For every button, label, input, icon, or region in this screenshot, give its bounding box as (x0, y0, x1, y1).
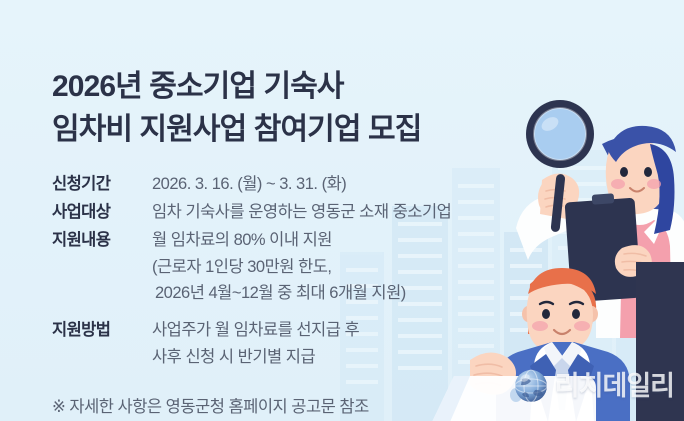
row-label: 지원방법 (52, 317, 140, 344)
row-label: 신청기간 (52, 171, 140, 198)
clipboard-icon (565, 193, 642, 302)
detail-row-support-details: 지원내용 월 임차료의 80% 이내 지원 (근로자 1인당 30만원 한도, … (52, 227, 522, 307)
row-label: 지원내용 (52, 227, 140, 254)
row-value: 2026. 3. 16. (월) ~ 3. 31. (화) (152, 171, 346, 198)
page-title: 2026년 중소기업 기숙사 임차비 지원사업 참여기업 모집 (52, 66, 522, 151)
announcement-content: 2026년 중소기업 기숙사 임차비 지원사업 참여기업 모집 신청기간 202… (52, 46, 522, 417)
watermark-text: 리치데일리 (555, 373, 674, 400)
row-value: 임차 기숙사를 운영하는 영동군 소재 중소기업 (152, 199, 451, 226)
detail-row-application-period: 신청기간 2026. 3. 16. (월) ~ 3. 31. (화) (52, 171, 522, 198)
title-line-2: 임차비 지원사업 참여기업 모집 (52, 109, 522, 152)
row-values: 월 임차료의 80% 이내 지원 (근로자 1인당 30만원 한도, 2026년… (140, 227, 406, 307)
row-value: 사후 신청 시 반기별 지급 (152, 344, 359, 371)
row-values: 임차 기숙사를 운영하는 영동군 소재 중소기업 (140, 199, 451, 226)
title-line-1: 2026년 중소기업 기숙사 (52, 66, 522, 109)
detail-rows: 신청기간 2026. 3. 16. (월) ~ 3. 31. (화) 사업대상 … (52, 171, 522, 371)
row-value: 월 임차료의 80% 이내 지원 (152, 227, 406, 254)
woman-with-magnifier-illustration (498, 88, 684, 338)
row-label: 사업대상 (52, 199, 140, 226)
row-value: 2026년 4월~12월 중 최대 6개월 지원) (152, 280, 406, 307)
row-value: 사업주가 월 임차료를 선지급 후 (152, 317, 359, 344)
row-values: 사업주가 월 임차료를 선지급 후 사후 신청 시 반기별 지급 (140, 317, 359, 370)
row-values: 2026. 3. 16. (월) ~ 3. 31. (화) (140, 171, 346, 198)
footnote: ※ 자세한 사항은 영동군청 홈페이지 공고문 참조 (52, 393, 522, 417)
row-value: (근로자 1인당 30만원 한도, (152, 254, 406, 281)
watermark: 리치데일리 (508, 365, 674, 407)
detail-row-support-method: 지원방법 사업주가 월 임차료를 선지급 후 사후 신청 시 반기별 지급 (52, 317, 522, 370)
announcement-banner: 2026년 중소기업 기숙사 임차비 지원사업 참여기업 모집 신청기간 202… (0, 0, 684, 421)
detail-row-eligibility: 사업대상 임차 기숙사를 운영하는 영동군 소재 중소기업 (52, 199, 522, 226)
